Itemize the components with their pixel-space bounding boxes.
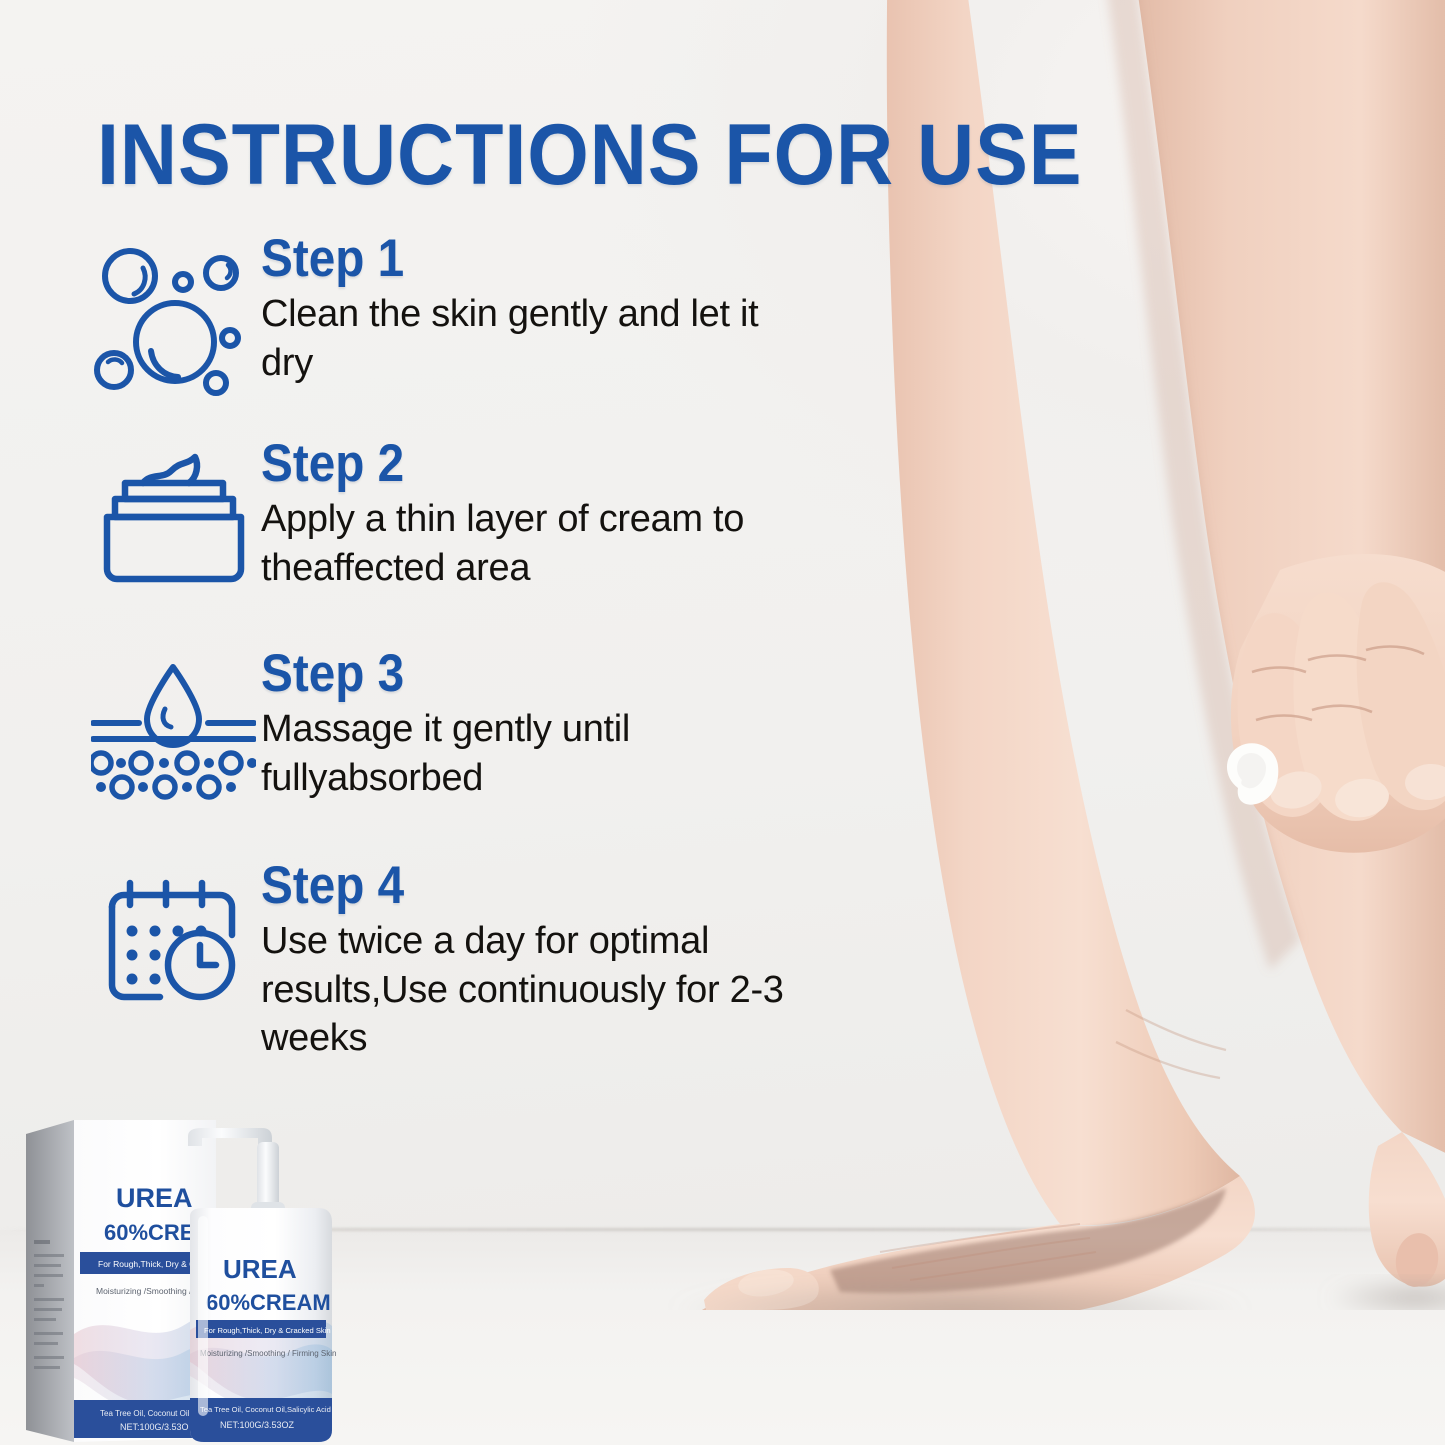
steps-list: Step 1 Clean the skin gently and let it … (86, 232, 786, 1119)
page-title: INSTRUCTIONS FOR USE (97, 112, 1082, 198)
step-2-text: Apply a thin layer of cream to theaffect… (261, 495, 786, 592)
bottle-benefits: Moisturizing /Smoothing / Firming Skin (200, 1349, 337, 1358)
step-item-4: Step 4 Use twice a day for optimal resul… (86, 859, 786, 1119)
step-4-body: Step 4 Use twice a day for optimal resul… (261, 859, 786, 1063)
step-item-3: Step 3 Massage it gently until fullyabso… (86, 647, 786, 859)
step-1-body: Step 1 Clean the skin gently and let it … (261, 232, 786, 387)
box-ingredients: Tea Tree Oil, Coconut Oil,Sa (100, 1409, 202, 1418)
bottle-ingredients: Tea Tree Oil, Coconut Oil,Salicylic Acid (200, 1405, 331, 1414)
step-2-body: Step 2 Apply a thin layer of cream to th… (261, 437, 786, 592)
step-3-text: Massage it gently until fullyabsorbed (261, 705, 786, 802)
calendar-clock-icon (86, 859, 261, 1005)
box-benefits: Moisturizing /Smoothing / Fi (96, 1286, 201, 1296)
product-packaging: UREA 60%CRE For Rough,Thick, Dry & Cra M… (20, 1112, 370, 1445)
box-strength: 60%CRE (104, 1220, 194, 1245)
step-3-heading: Step 3 (261, 647, 734, 701)
step-item-1: Step 1 Clean the skin gently and let it … (86, 232, 786, 437)
infographic-page: INSTRUCTIONS FOR USE (0, 0, 1445, 1445)
bubbles-icon (86, 232, 261, 396)
box-banner: For Rough,Thick, Dry & Cra (98, 1259, 203, 1269)
step-item-2: Step 2 Apply a thin layer of cream to th… (86, 437, 786, 647)
step-1-text: Clean the skin gently and let it dry (261, 290, 786, 387)
bottle-banner: For Rough,Thick, Dry & Cracked Skin (204, 1326, 331, 1335)
step-2-heading: Step 2 (261, 437, 734, 491)
step-4-heading: Step 4 (261, 859, 734, 913)
box-net-weight: NET:100G/3.53O (120, 1422, 189, 1432)
cream-jar-icon (86, 437, 261, 591)
bottle-strength: 60%CREAM (206, 1290, 331, 1315)
bottle-net-weight: NET:100G/3.53OZ (220, 1420, 295, 1430)
step-1-heading: Step 1 (261, 232, 734, 286)
droplet-absorption-icon (86, 647, 261, 803)
step-3-body: Step 3 Massage it gently until fullyabso… (261, 647, 786, 802)
step-4-text: Use twice a day for optimal results,Use … (261, 917, 786, 1063)
bottle-brand: UREA (223, 1254, 297, 1284)
box-brand: UREA (116, 1183, 193, 1213)
